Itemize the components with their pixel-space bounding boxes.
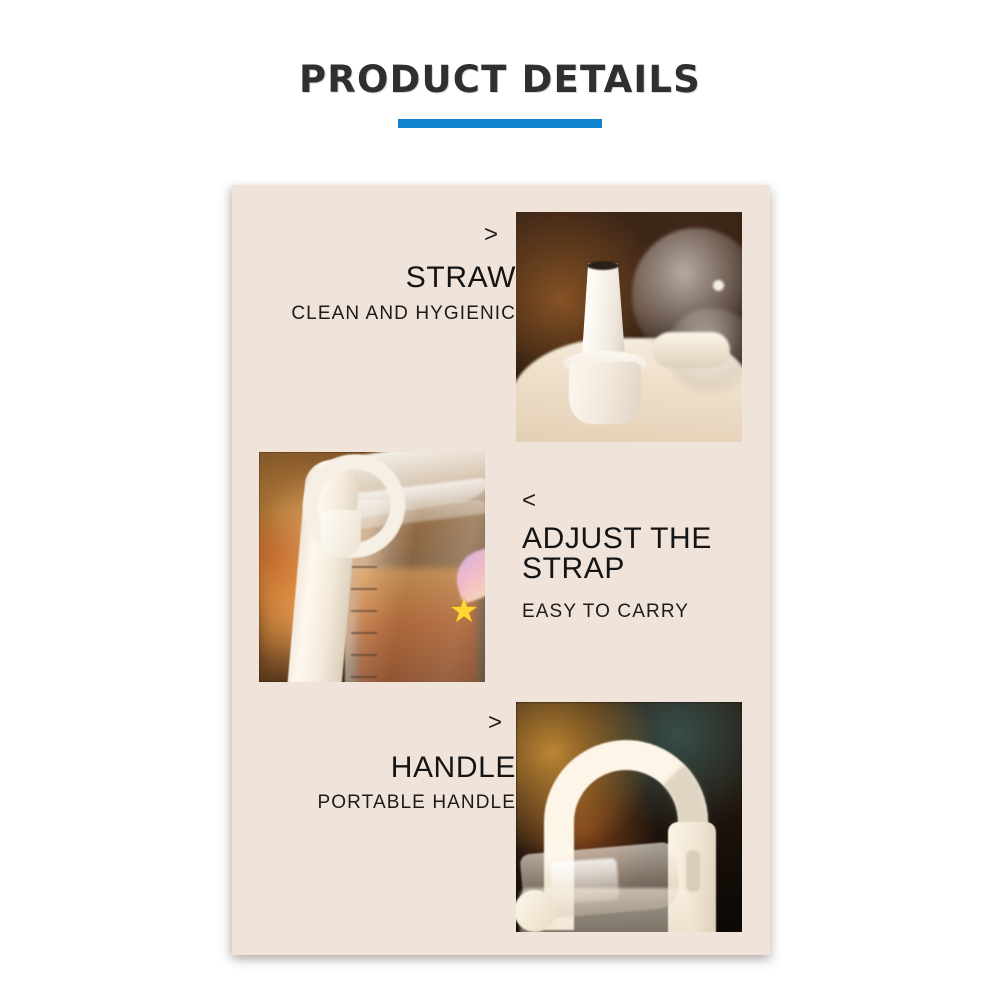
photo-measurement-scale (351, 544, 377, 680)
feature-headline-handle: HANDLE (252, 753, 516, 783)
feature-headline-strap: ADJUST THE STRAP (522, 524, 752, 584)
photo-straw-opening (587, 261, 619, 270)
chevron-left-icon: < (522, 489, 752, 513)
star-sticker-icon: ★ (447, 594, 481, 628)
chevron-right-icon: > (252, 711, 502, 735)
feature-text-straw: > STRAW CLEAN AND HYGIENIC (252, 223, 516, 325)
feature-subline-handle: PORTABLE HANDLE (252, 792, 516, 814)
page-title: PRODUCT DETAILS (0, 58, 1000, 101)
feature-subline-straw: CLEAN AND HYGIENIC (252, 303, 516, 325)
photo-handle-slot (686, 850, 700, 892)
product-details-card: ★ > STRAW CLEAN AND HYGIENIC < ADJUST TH… (232, 185, 770, 955)
photo-side-cap (652, 332, 730, 368)
photo-hinge-knob (516, 890, 556, 932)
feature-headline-straw: STRAW (252, 263, 516, 293)
chevron-right-icon: > (252, 223, 498, 247)
feature-image-strap: ★ (259, 452, 485, 682)
feature-subline-strap: EASY TO CARRY (522, 601, 752, 623)
title-underline-accent (398, 119, 602, 128)
feature-image-straw (516, 212, 742, 442)
photo-bokeh-dot (713, 280, 724, 291)
feature-image-handle (516, 702, 742, 932)
photo-strap-clip (321, 510, 361, 558)
feature-text-handle: > HANDLE PORTABLE HANDLE (252, 711, 516, 814)
page-header: PRODUCT DETAILS (0, 0, 1000, 170)
feature-text-strap: < ADJUST THE STRAP EASY TO CARRY (522, 489, 752, 623)
photo-spout-base (569, 362, 641, 424)
